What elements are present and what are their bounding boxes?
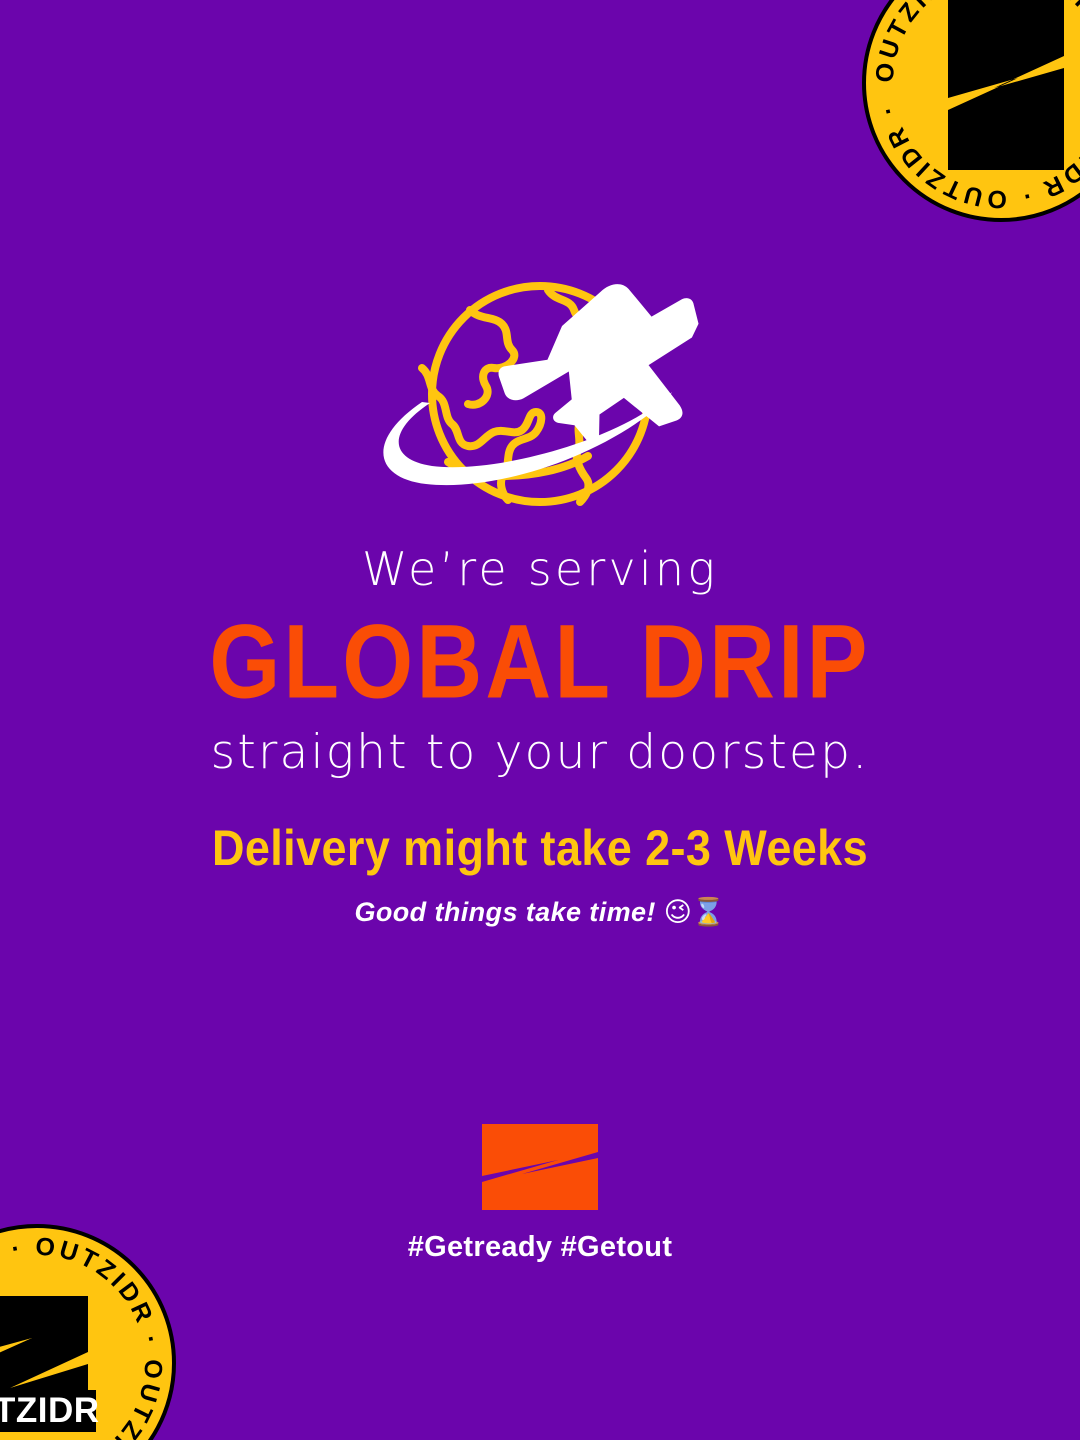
outzidr-z-logo xyxy=(478,1122,602,1212)
delivery-notice-block: Delivery might take 2-3 Weeks Good thing… xyxy=(0,822,1080,928)
headline-block: We’re serving GLOBAL DRIP straight to yo… xyxy=(0,545,1080,779)
wink-hourglass-emoji: 😉⌛ xyxy=(664,897,726,928)
delivery-subtext-label: Good things take time! xyxy=(355,897,656,927)
seal-center-wordmark: OUTZIDR xyxy=(0,1391,100,1430)
page-title: GLOBAL DRIP xyxy=(0,601,1080,725)
headline-pre-text: We’re serving xyxy=(0,545,1080,595)
globe-with-airplane-icon xyxy=(352,272,732,522)
poster-canvas: OUTZIDR · OUTZIDR · OUTZIDR · OUTZIDR · … xyxy=(0,0,1080,1440)
outzidr-seal-top-right: OUTZIDR · OUTZIDR · OUTZIDR · OUTZIDR · xyxy=(856,0,1080,228)
hashtags-text: #Getready #Getout xyxy=(0,1231,1080,1264)
footer-brand-block: #Getready #Getout xyxy=(0,1122,1080,1264)
headline-post-text: straight to your doorstep. xyxy=(0,728,1080,779)
delivery-subtext: Good things take time! 😉⌛ xyxy=(0,896,1080,928)
seal-center-z-top-right xyxy=(948,0,1064,170)
delivery-estimate-text: Delivery might take 2-3 Weeks xyxy=(0,819,1080,877)
